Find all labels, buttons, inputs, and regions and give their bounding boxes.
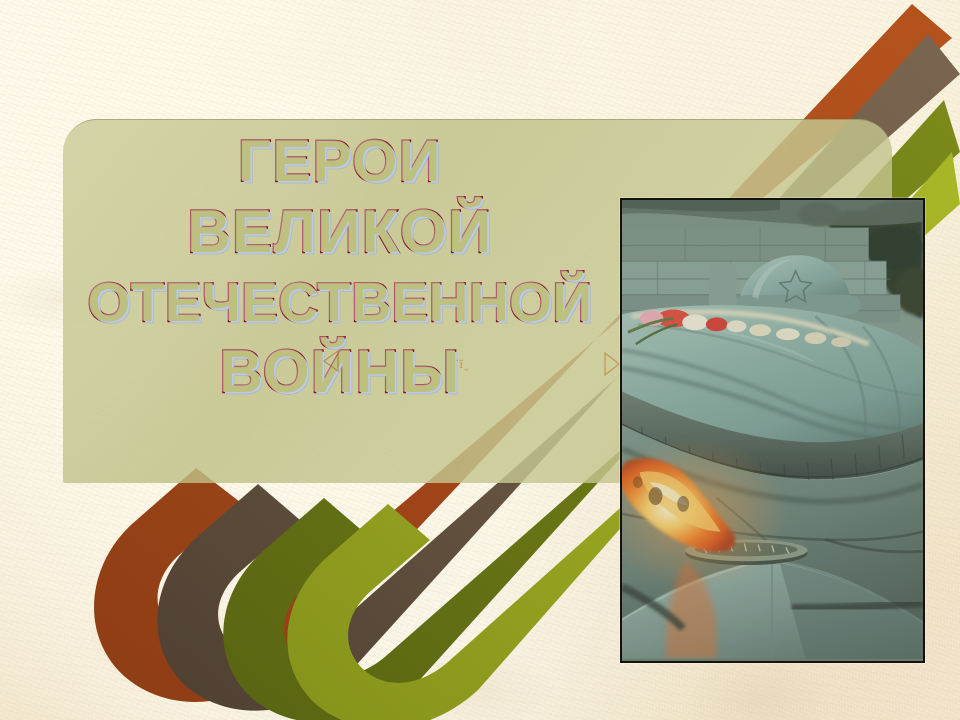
eternal-flame-memorial-photo xyxy=(620,198,925,663)
presentation-slide: ГЕРОИ ВЕЛИКОЙ ОТЕЧЕСТВЕННОЙ ВОЙНЫ ˙ĭ ̮ xyxy=(0,0,960,720)
left-triangle-marker xyxy=(318,348,344,379)
center-tiny-marks: ˙ĭ ̮ xyxy=(455,357,466,370)
